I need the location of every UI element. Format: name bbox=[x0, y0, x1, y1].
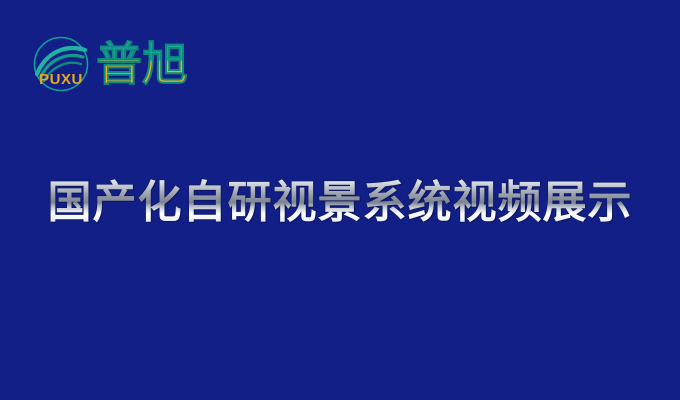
brand-logo: PUXU 普旭 bbox=[30, 33, 195, 95]
brand-latin-name: PUXU bbox=[39, 71, 83, 88]
page-title: 国产化自研视景系统视频展示 国产化自研视景系统视频展示 bbox=[0, 172, 680, 234]
brand-chinese-wordmark: 普旭 bbox=[96, 35, 196, 93]
puxu-circle-swoosh-logo-icon: PUXU bbox=[30, 34, 92, 94]
brand-name-text: 普旭 bbox=[96, 37, 188, 91]
video-title-slide: PUXU 普旭 bbox=[0, 0, 680, 400]
page-title-text: 国产化自研视景系统视频展示 bbox=[48, 177, 633, 228]
